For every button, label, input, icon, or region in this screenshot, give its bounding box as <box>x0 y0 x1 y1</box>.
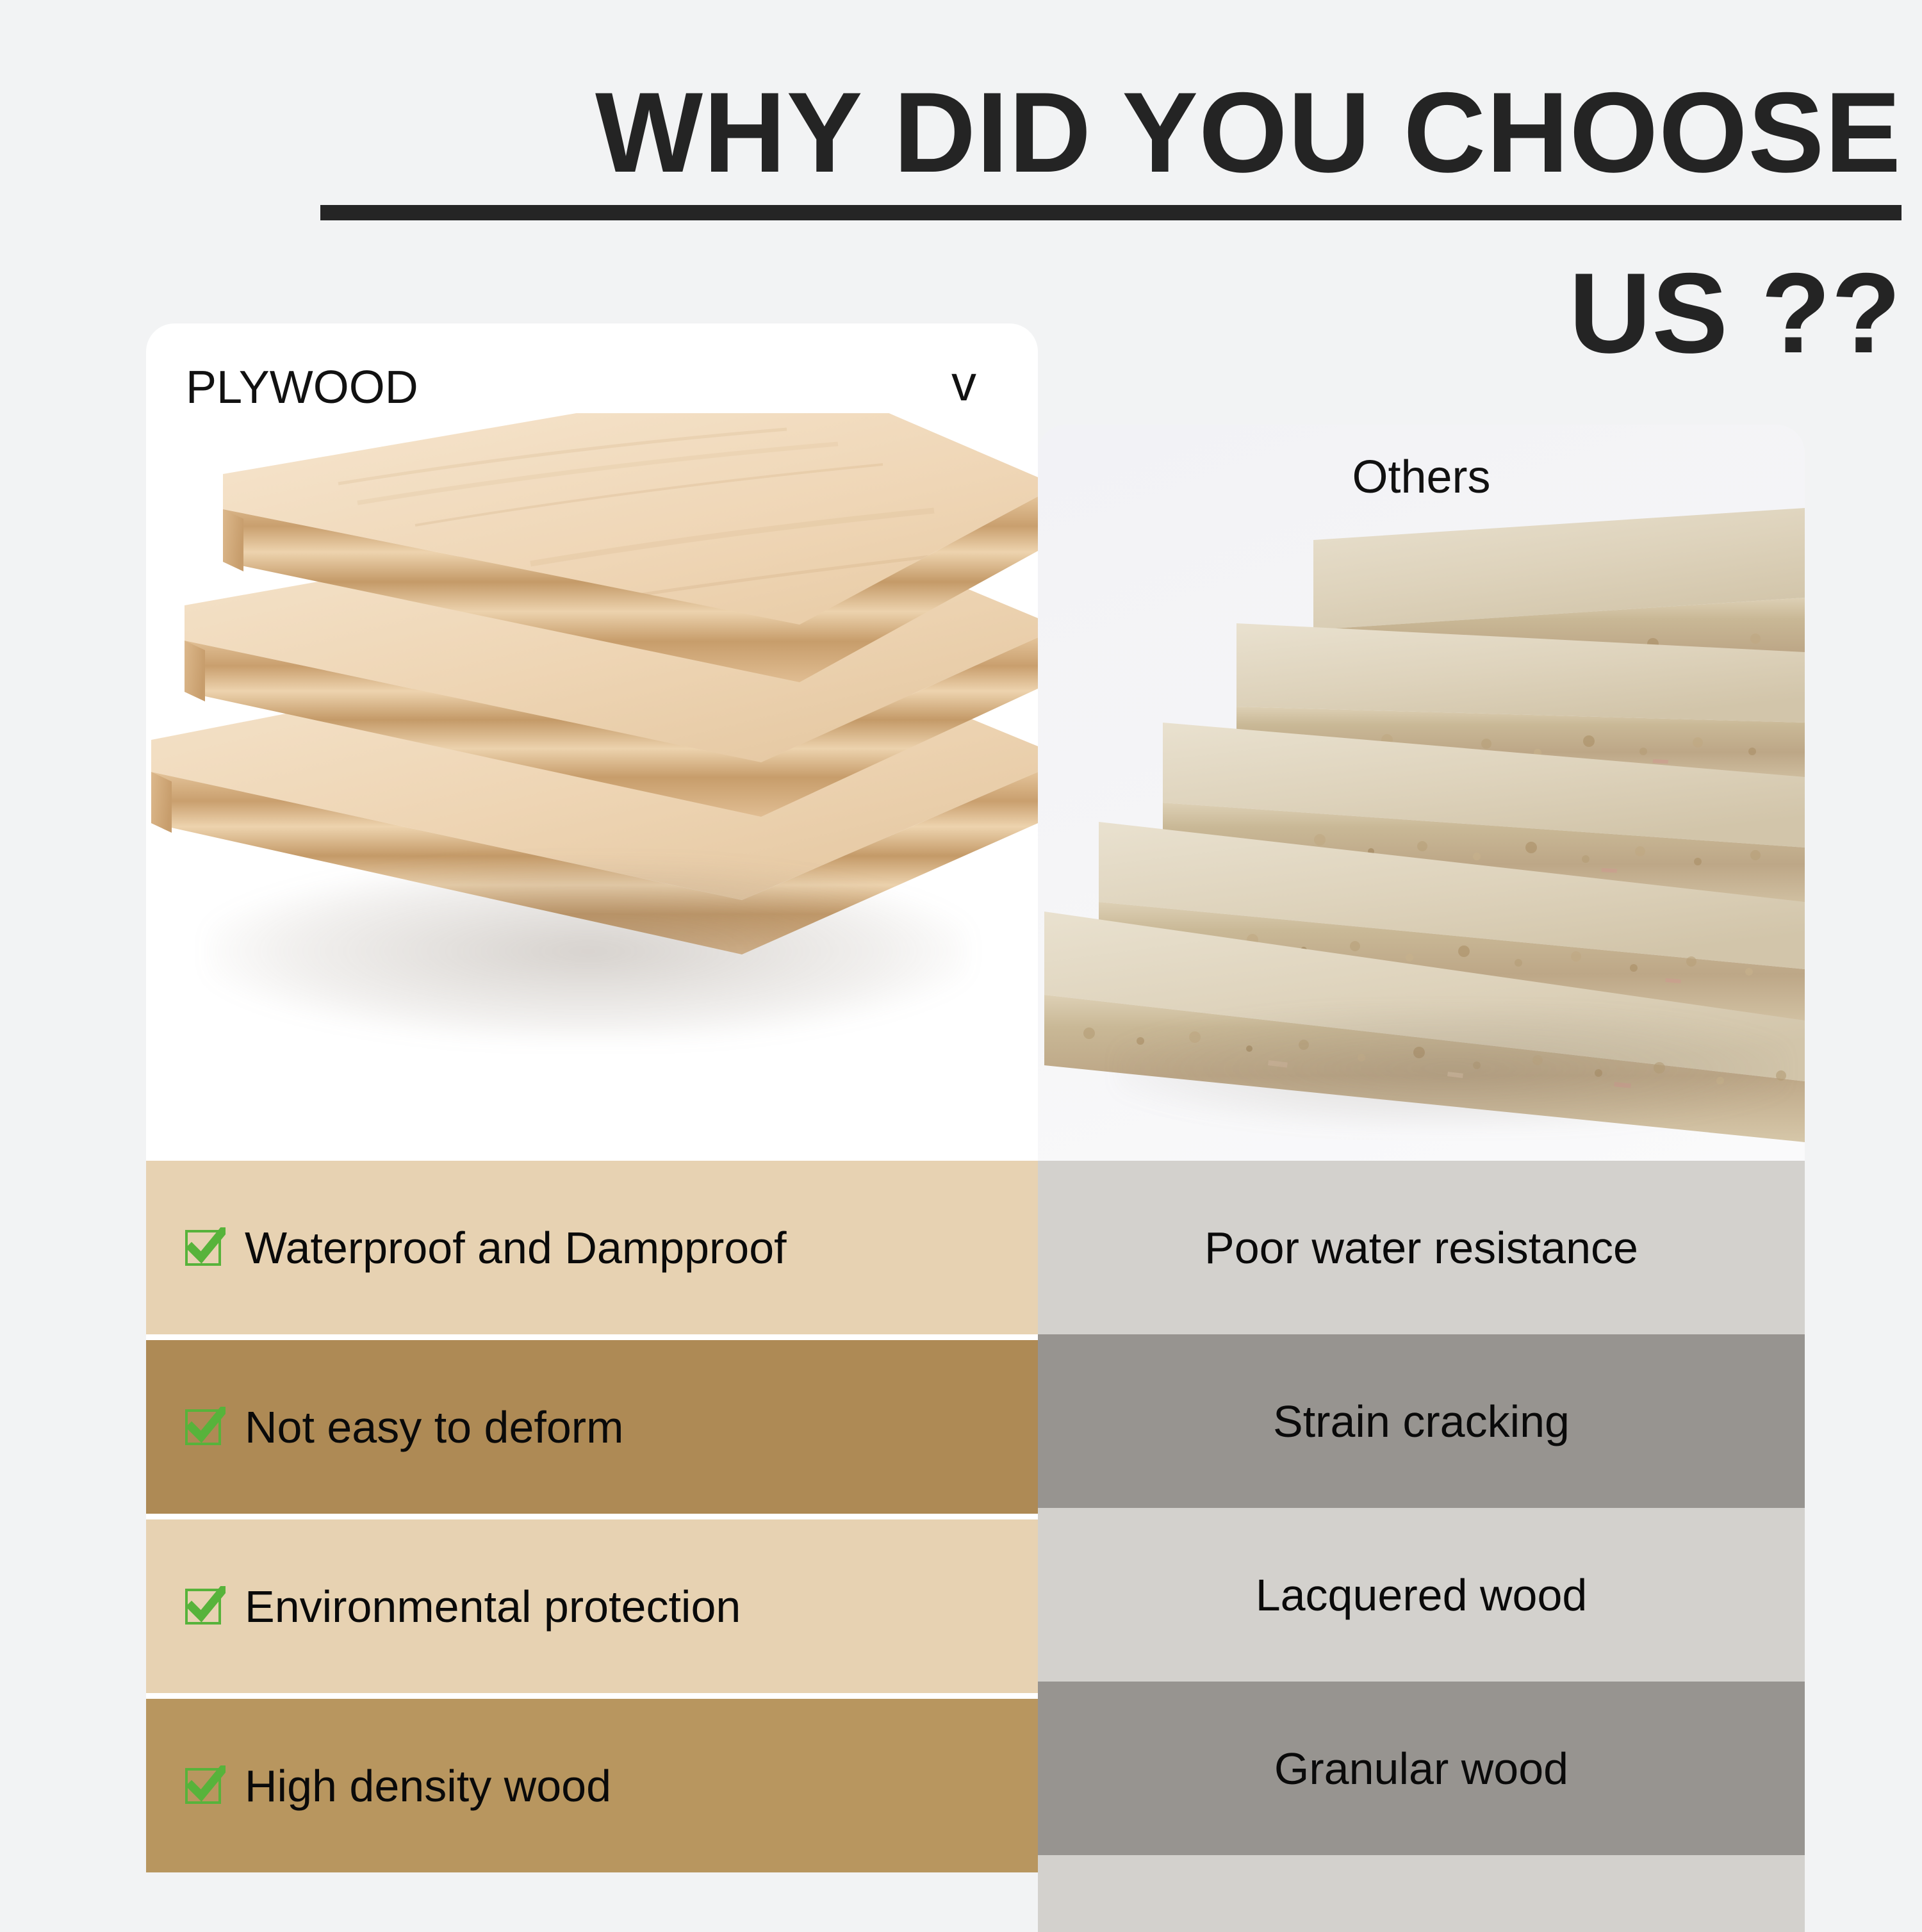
table-row: Strain cracking <box>1038 1334 1805 1508</box>
table-row: High density wood <box>146 1699 1038 1872</box>
table-row: Lacquered wood <box>1038 1508 1805 1682</box>
table-row: Waterproof and Dampproof <box>146 1161 1038 1334</box>
plywood-stack-image <box>146 413 1038 1161</box>
row-divider <box>146 1693 1038 1699</box>
feature-label: Poor water resistance <box>1204 1225 1638 1270</box>
others-panel-title: Others <box>1038 454 1805 500</box>
feature-label: Strain cracking <box>1273 1399 1570 1444</box>
feature-label: Not easy to deform <box>245 1405 623 1450</box>
table-row: Poor water resistance <box>1038 1161 1805 1334</box>
heading-line-1: WHY DID YOU CHOOSE <box>0 76 1901 190</box>
feature-label: Lacquered wood <box>1256 1573 1588 1617</box>
plywood-stack-shadow <box>207 862 969 1041</box>
table-row: Granular wood <box>1038 1682 1805 1855</box>
plywood-panel[interactable]: PLYWOOD v <box>146 323 1038 1161</box>
plywood-feature-list: Waterproof and Dampproof Not easy to def… <box>146 1161 1038 1872</box>
check-box-icon <box>185 1227 226 1268</box>
feature-label: Granular wood <box>1274 1746 1568 1791</box>
check-box-icon <box>185 1586 226 1627</box>
chevron-down-icon[interactable]: v <box>951 358 976 408</box>
others-list-tail <box>1038 1855 1805 1932</box>
plywood-stack-svg <box>146 413 1038 1161</box>
table-row: Not easy to deform <box>146 1340 1038 1514</box>
others-panel[interactable]: Others <box>1038 425 1805 1161</box>
feature-label: High density wood <box>245 1764 611 1808</box>
others-feature-list: Poor water resistance Strain cracking La… <box>1038 1161 1805 1932</box>
particleboard-stack-image <box>1038 502 1805 1161</box>
row-divider <box>146 1514 1038 1519</box>
feature-label: Waterproof and Dampproof <box>245 1225 787 1270</box>
feature-label: Environmental protection <box>245 1584 741 1629</box>
check-box-icon <box>185 1407 226 1448</box>
row-divider <box>146 1334 1038 1340</box>
plywood-panel-title: PLYWOOD <box>186 364 418 411</box>
check-box-icon <box>185 1765 226 1806</box>
particleboard-stack-shadow <box>1115 1008 1787 1129</box>
heading-underline-rule <box>320 205 1901 220</box>
table-row: Environmental protection <box>146 1519 1038 1693</box>
